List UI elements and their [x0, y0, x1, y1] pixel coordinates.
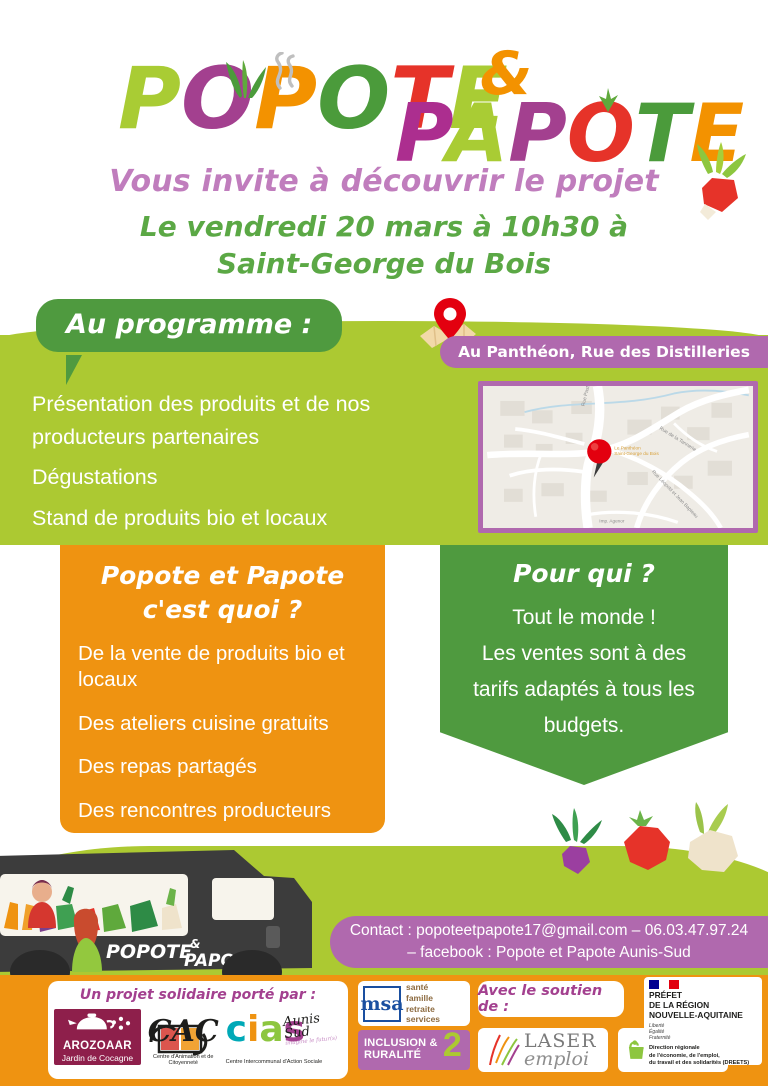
about-list: De la vente de produits bio et locaux De…	[78, 641, 385, 825]
teapot-icon	[54, 1010, 142, 1040]
msa-word: famille	[406, 993, 440, 1004]
msa-word: retraite	[406, 1004, 440, 1015]
about-item: Des ateliers cuisine gratuits	[78, 711, 385, 738]
brand-logo: POPOTE & PAPOTE	[0, 22, 768, 162]
contact-line-2: – facebook : Popote et Papote Aunis-Sud	[407, 942, 691, 964]
inclusion-ruralite-logo: INCLUSION & RURALITÉ 2	[358, 1030, 470, 1070]
laser-emploi-logo: LASER emploi	[478, 1028, 608, 1072]
map-street-label: Imp. Agenor	[599, 518, 625, 523]
audience-line-4: budgets.	[448, 708, 720, 744]
headline-block: Vous invite à découvrir le projet Le ven…	[0, 164, 768, 283]
programme-bubble: Au programme :	[36, 299, 342, 352]
direction-line: du travail et des solidarités (DREETS)	[649, 1060, 757, 1067]
about-item: De la vente de produits bio et locaux	[78, 641, 385, 694]
about-title-line2: c'est quoi ?	[60, 593, 385, 627]
map-graphic: Rue Pasteur Rue de la Tannerie Rue Léopo…	[483, 386, 753, 528]
arozoaar-sub: Jardin de Cocagne	[54, 1053, 141, 1063]
tomato-stem-icon	[586, 86, 630, 112]
wheat-icon	[484, 1033, 520, 1067]
aunis-sud-mark: Aunis Sud imagine le futur(s)	[283, 1011, 342, 1047]
prefet-logo: PRÉFET DE LA RÉGION NOUVELLE-AQUITAINE L…	[644, 977, 762, 1065]
tomato-icon	[624, 810, 670, 870]
invite-line: Vous invite à découvrir le projet	[0, 164, 768, 199]
audience-title: Pour qui ?	[440, 559, 728, 588]
map-frame[interactable]: Rue Pasteur Rue de la Tannerie Rue Léopo…	[478, 381, 758, 533]
date-line-1: Le vendredi 20 mars à 10h30 à	[0, 209, 768, 246]
arozoaar-name: AROZOAAR	[54, 1040, 141, 1052]
prefet-motto: Liberté Égalité Fraternité	[649, 1023, 757, 1042]
partners-card: Un projet solidaire porté par : AROZOAAR…	[48, 981, 348, 1079]
svg-text:POPOTE: POPOTE	[106, 941, 192, 963]
partners-heading: Un projet solidaire porté par :	[48, 987, 348, 1003]
support-heading-card: Avec le soutien de :	[478, 981, 624, 1017]
audience-line-1: Tout le monde !	[448, 600, 720, 636]
steam-icon	[266, 52, 306, 92]
french-flag-icon	[649, 980, 679, 989]
about-title: Popote et Papote c'est quoi ?	[60, 559, 385, 627]
about-title-line1: Popote et Papote	[60, 559, 385, 593]
map-place-label: Saint-George du Bois	[614, 451, 659, 456]
motto-line: Fraternité	[649, 1035, 757, 1041]
logo-letter: O	[317, 49, 390, 149]
prefet-title-line: NOUVELLE-AQUITAINE	[649, 1011, 757, 1021]
about-item: Des repas partagés	[78, 754, 385, 781]
programme-item: Dégustations	[32, 461, 432, 494]
cias-sub: Centre Intercommunal d'Action Sociale	[226, 1059, 342, 1065]
beet-icon	[552, 808, 602, 874]
cias-logo: cias Aunis Sud imagine le futur(s) Centr…	[226, 1008, 342, 1066]
svg-text:&: &	[190, 937, 200, 951]
about-panel: Popote et Papote c'est quoi ? De la vent…	[60, 545, 385, 833]
map-place-label: Le Panthéon	[614, 446, 641, 451]
date-line-2: Saint-George du Bois	[0, 246, 768, 283]
msa-word: santé	[406, 982, 440, 993]
cac-logo: CAC Centre d'Animation et de Citoyenneté	[145, 1008, 222, 1066]
partners-logo-row: AROZOAAR Jardin de Cocagne CAC Centre d'…	[48, 1003, 348, 1067]
msa-logo: msa santé famille retraite services	[358, 981, 470, 1026]
address-text: Au Panthéon, Rue des Distilleries	[458, 343, 750, 361]
address-banner: Au Panthéon, Rue des Distilleries	[440, 336, 768, 368]
programme-list: Présentation des produits et de nos prod…	[32, 388, 432, 543]
programme-item: Présentation des produits et de nos prod…	[32, 388, 432, 453]
map-canvas[interactable]: Rue Pasteur Rue de la Tannerie Rue Léopo…	[483, 386, 753, 528]
contact-banner: Contact : popoteetpapote17@gmail.com – 0…	[330, 916, 768, 968]
vegetables-illustration	[540, 800, 750, 886]
audience-body: Tout le monde ! Les ventes sont à des ta…	[440, 600, 728, 744]
bubble-tail	[66, 355, 82, 385]
inclusion-mark: 2	[443, 1028, 462, 1064]
programme-item: Stand de produits bio et locaux	[32, 502, 432, 535]
arozoaar-logo: AROZOAAR Jardin de Cocagne	[54, 1009, 141, 1065]
programme-bubble-label: Au programme :	[66, 309, 312, 340]
laser-wordmark: LASER emploi	[524, 1032, 597, 1068]
audience-line-2: Les ventes sont à des	[448, 636, 720, 672]
logo-letter: P	[118, 49, 181, 149]
audience-line-3: tarifs adaptés à tous les	[448, 672, 720, 708]
msa-words: santé famille retraite services	[406, 982, 440, 1026]
direction-line: Direction régionale	[649, 1045, 757, 1052]
audience-panel: Pour qui ? Tout le monde ! Les ventes so…	[440, 545, 728, 785]
msa-word: services	[406, 1014, 440, 1025]
msa-mark-icon: msa	[363, 986, 401, 1022]
poster-root: POPOTE & PAPOTE Vous invite à découvrir	[0, 0, 768, 1086]
contact-line-1: Contact : popoteetpapote17@gmail.com – 0…	[350, 920, 748, 942]
cac-sub: Centre d'Animation et de Citoyenneté	[145, 1054, 222, 1066]
prefet-title: PRÉFET DE LA RÉGION NOUVELLE-AQUITAINE	[649, 991, 757, 1021]
about-item: Des rencontres producteurs	[78, 798, 385, 825]
support-heading: Avec le soutien de :	[478, 983, 624, 1015]
direction-line: de l'économie, de l'emploi,	[649, 1053, 757, 1060]
cac-name: CAC	[145, 1014, 222, 1049]
laser-line-2: emploi	[524, 1050, 597, 1068]
turnip-icon	[688, 802, 738, 872]
beet-leaves-icon	[218, 58, 270, 98]
prefet-direction: Direction régionale de l'économie, de l'…	[649, 1045, 757, 1067]
